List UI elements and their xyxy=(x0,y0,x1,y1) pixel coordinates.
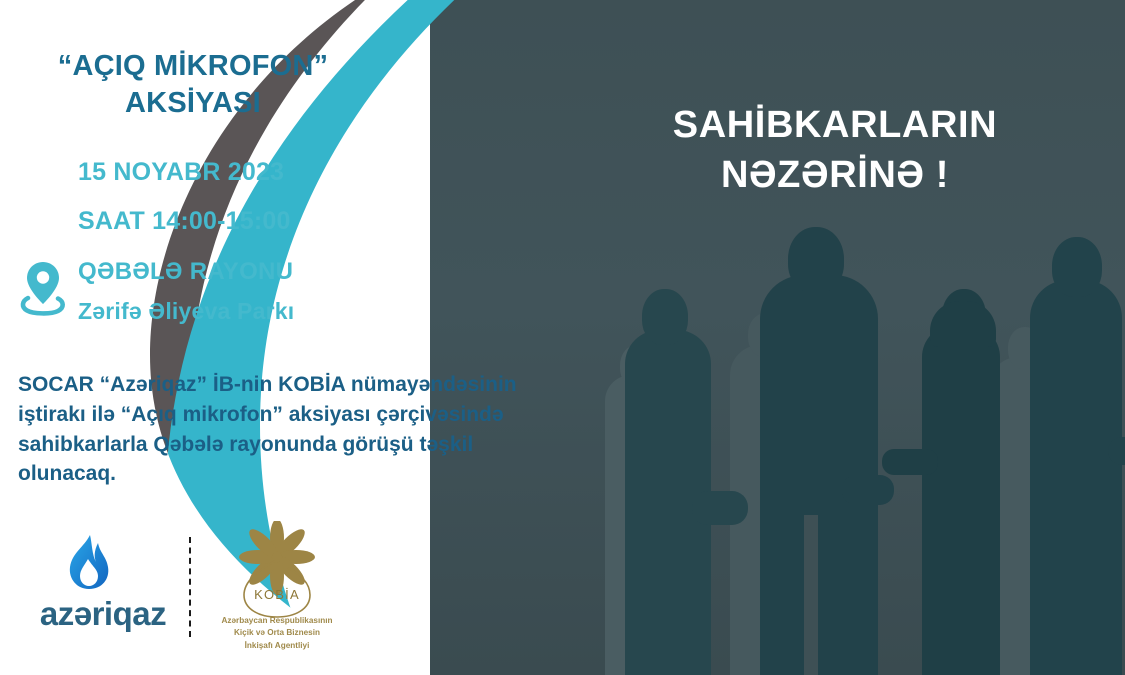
kobia-subtitle-line-3: İnkişafı Agentliyi xyxy=(207,640,347,652)
flower-icon: KOBİA xyxy=(212,521,342,621)
headline-line-2: NƏZƏRİNƏ ! xyxy=(600,150,1070,200)
event-time: SAAT 14:00-15:00 xyxy=(78,207,291,236)
azeriqaz-logo: azəriqaz xyxy=(14,529,164,629)
poster-title-line-1: “AÇIQ MİKROFON” xyxy=(18,48,368,85)
location-pin-icon xyxy=(20,258,66,320)
poster-canvas: “AÇIQ MİKROFON” AKSİYASI 15 NOYABR 2023 … xyxy=(0,0,1125,675)
kobia-subtitle-line-1: Azərbaycan Respublikasının xyxy=(207,615,347,627)
kobia-subtitle-line-2: Kiçik və Orta Biznesin xyxy=(207,627,347,639)
logo-divider xyxy=(189,537,191,637)
svg-text:KOBİA: KOBİA xyxy=(254,587,300,602)
azeriqaz-wordmark: azəriqaz xyxy=(28,595,178,633)
event-location-venue: Zərifə Əliyeva Parkı xyxy=(78,298,294,325)
event-location-region: QƏBƏLƏ RAYONU xyxy=(78,258,293,286)
event-date: 15 NOYABR 2023 xyxy=(78,158,284,187)
headline: SAHİBKARLARIN NƏZƏRİNƏ ! xyxy=(600,100,1070,200)
event-description: SOCAR “Azəriqaz” İB-nin KOBİA nümayəndəs… xyxy=(18,370,558,489)
poster-title: “AÇIQ MİKROFON” AKSİYASI xyxy=(18,48,368,122)
flame-icon xyxy=(14,529,164,599)
poster-title-line-2: AKSİYASI xyxy=(18,85,368,122)
headline-line-1: SAHİBKARLARIN xyxy=(600,100,1070,150)
logo-row: azəriqaz KOBİA Azə xyxy=(0,515,360,665)
kobia-subtitle: Azərbaycan Respublikasının Kiçik və Orta… xyxy=(207,615,347,652)
